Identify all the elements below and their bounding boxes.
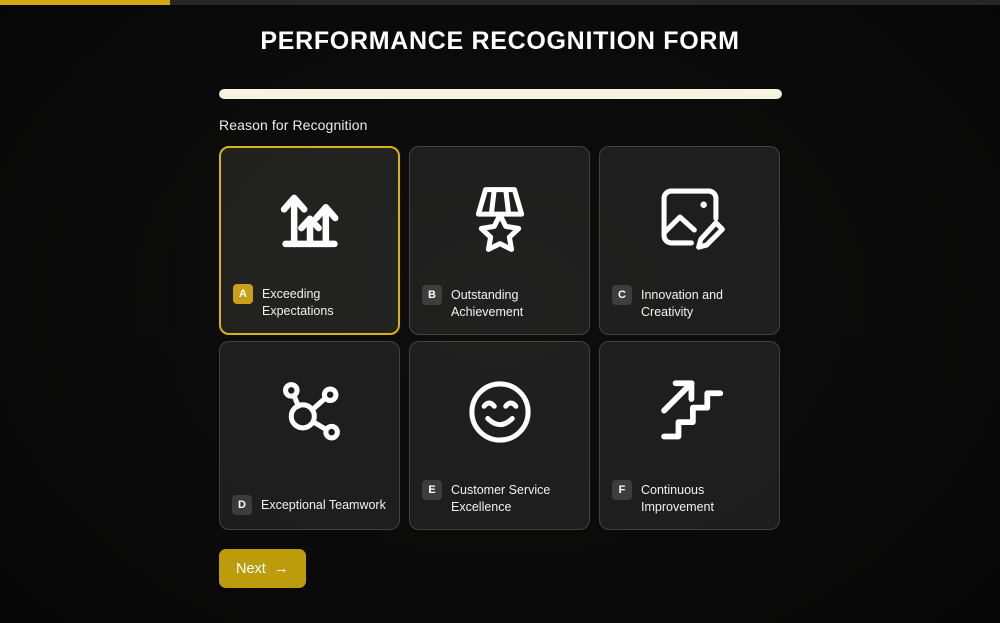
recognition-form-screen: PERFORMANCE RECOGNITION FORM Reason for … — [0, 0, 1000, 623]
option-label: Customer Service Excellence — [451, 480, 579, 515]
option-footer: DExceptional Teamwork — [232, 495, 389, 515]
stairs-arrow-up-icon — [600, 342, 779, 482]
network-nodes-icon — [220, 342, 399, 482]
image-edit-icon — [600, 147, 779, 287]
top-progress-strip — [0, 0, 1000, 5]
option-label: Exceptional Teamwork — [261, 495, 386, 514]
option-card-d[interactable]: DExceptional Teamwork — [219, 341, 400, 530]
medal-star-icon — [410, 147, 589, 287]
option-key-badge: F — [612, 480, 632, 500]
question-label: Reason for Recognition — [219, 117, 368, 133]
growth-arrows-icon — [221, 148, 398, 288]
form-progress-bar — [219, 89, 782, 99]
form-content: PERFORMANCE RECOGNITION FORM Reason for … — [0, 0, 1000, 623]
option-footer: FContinuous Improvement — [612, 480, 769, 515]
option-card-b[interactable]: BOutstanding Achievement — [409, 146, 590, 335]
option-key-badge: B — [422, 285, 442, 305]
option-key-badge: D — [232, 495, 252, 515]
option-footer: CInnovation and Creativity — [612, 285, 769, 320]
next-button[interactable]: Next → — [219, 549, 306, 588]
smiley-face-icon — [410, 342, 589, 482]
option-label: Exceeding Expectations — [262, 284, 388, 319]
option-label: Continuous Improvement — [641, 480, 769, 515]
option-footer: ECustomer Service Excellence — [422, 480, 579, 515]
option-card-a[interactable]: AExceeding Expectations — [219, 146, 400, 335]
option-label: Outstanding Achievement — [451, 285, 579, 320]
option-key-badge: A — [233, 284, 253, 304]
option-card-c[interactable]: CInnovation and Creativity — [599, 146, 780, 335]
option-key-badge: E — [422, 480, 442, 500]
next-button-label: Next — [236, 561, 266, 577]
option-label: Innovation and Creativity — [641, 285, 769, 320]
option-card-e[interactable]: ECustomer Service Excellence — [409, 341, 590, 530]
option-footer: AExceeding Expectations — [233, 284, 388, 319]
top-progress-strip-fill — [0, 0, 170, 5]
option-key-badge: C — [612, 285, 632, 305]
page-title: PERFORMANCE RECOGNITION FORM — [0, 27, 1000, 56]
option-footer: BOutstanding Achievement — [422, 285, 579, 320]
arrow-right-icon: → — [274, 561, 289, 576]
form-progress-bar-fill — [219, 89, 782, 99]
option-card-f[interactable]: FContinuous Improvement — [599, 341, 780, 530]
options-grid: AExceeding Expectations BOutstanding Ach… — [219, 146, 782, 530]
